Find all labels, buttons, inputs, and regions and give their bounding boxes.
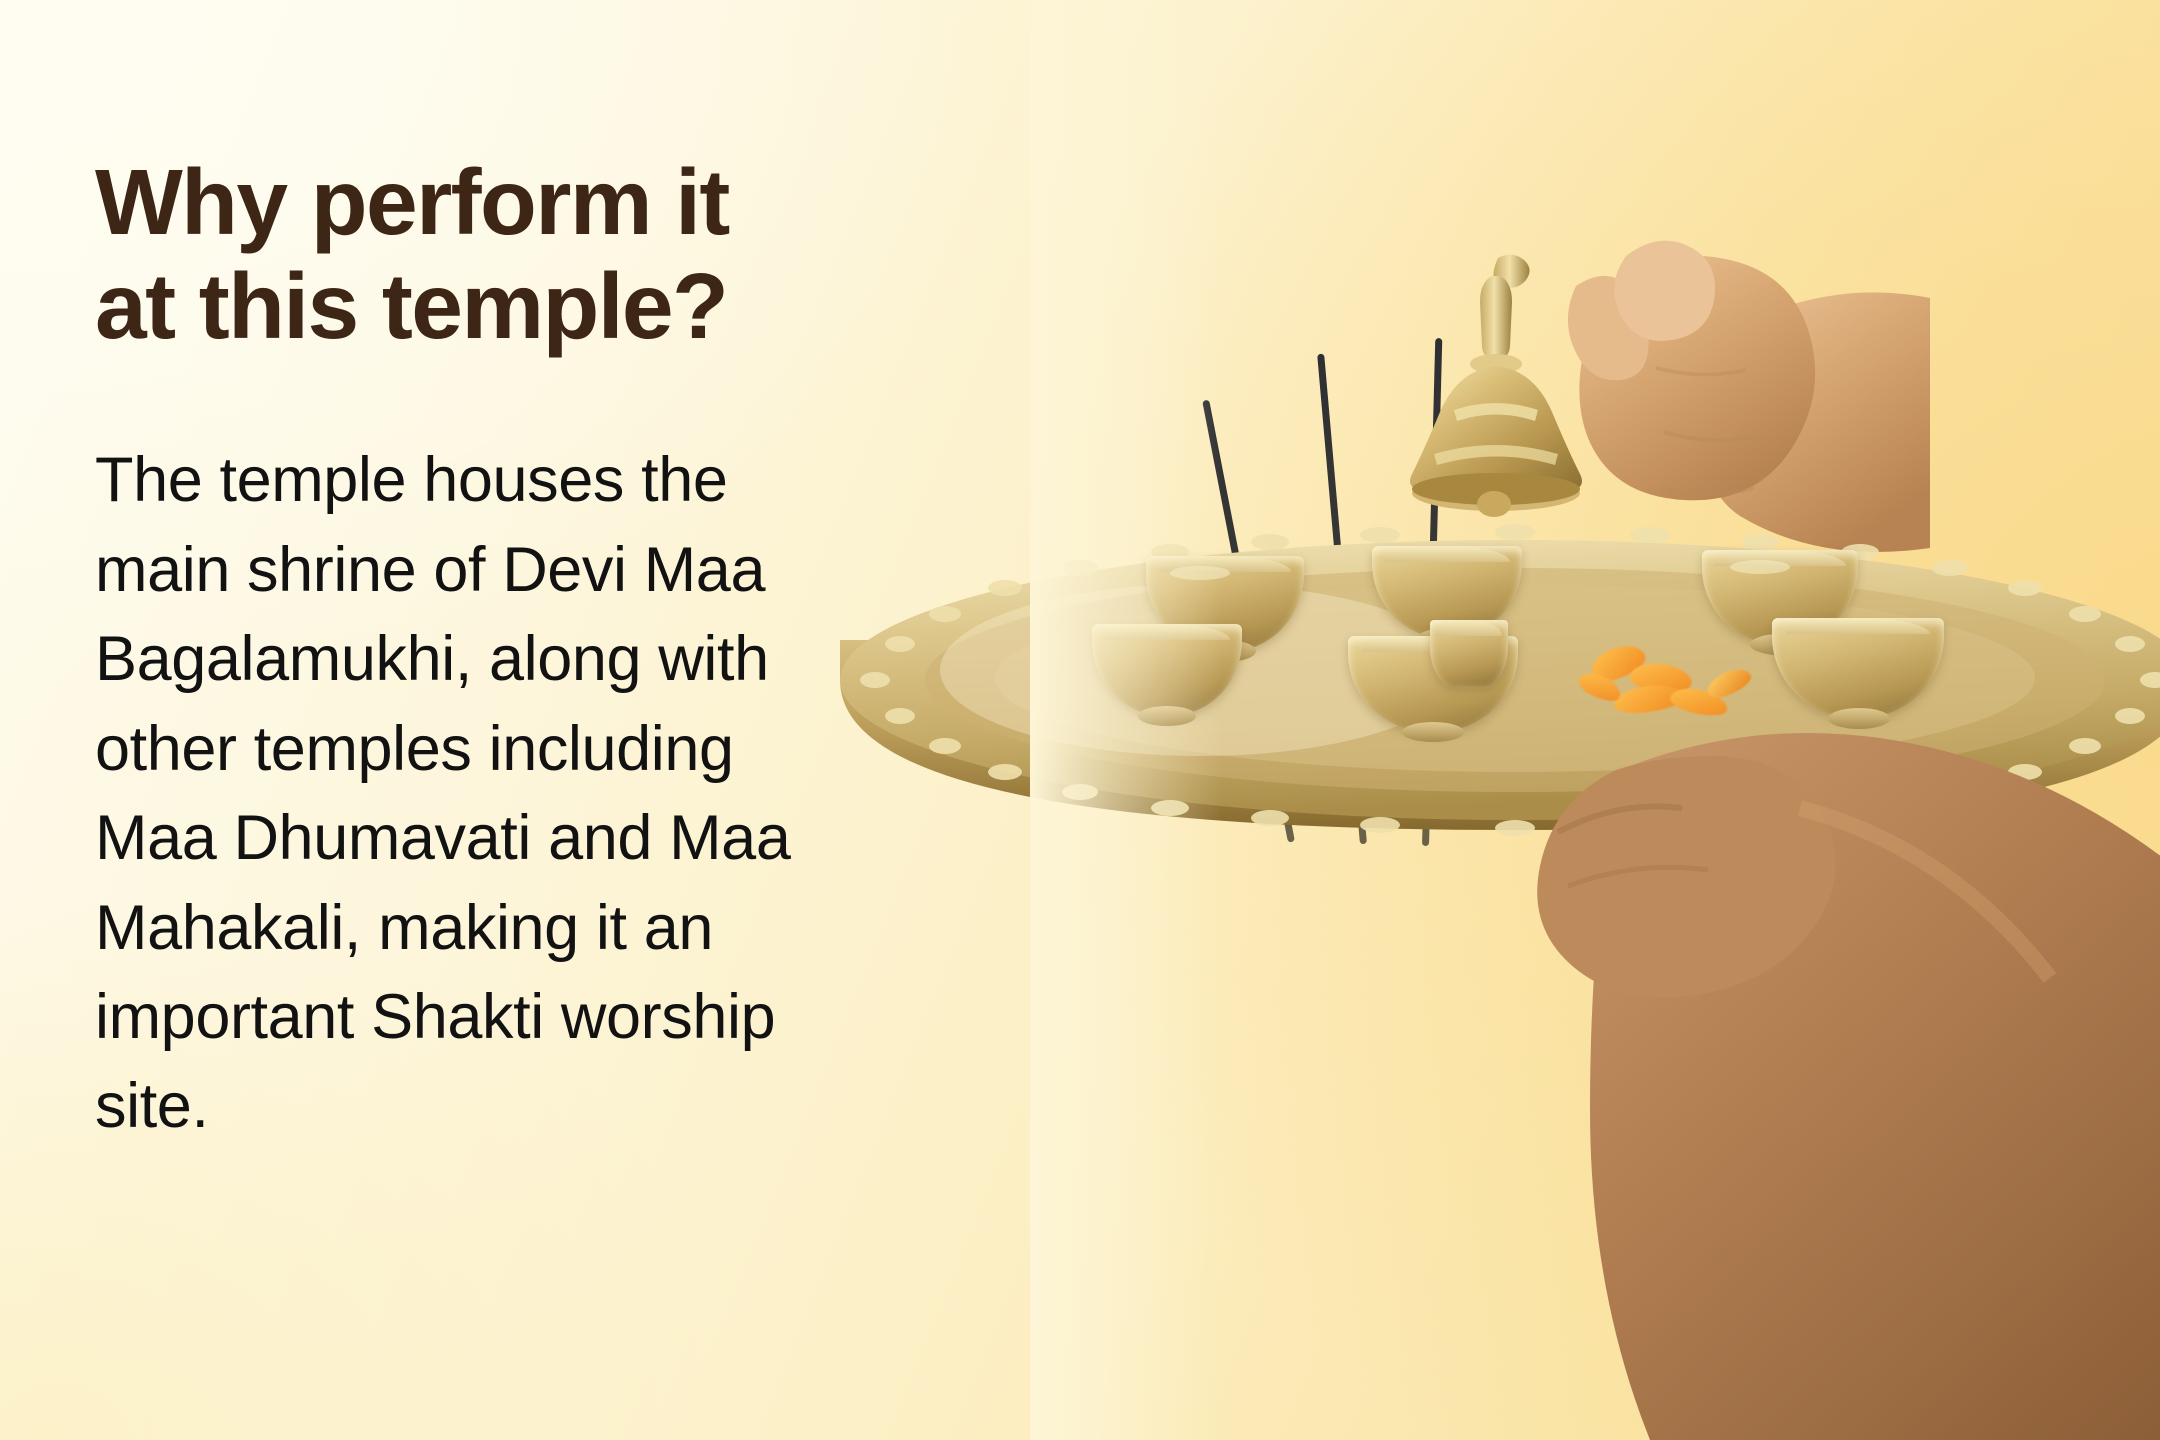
incense-holder: [1430, 620, 1508, 686]
brass-bowl-stand: [1138, 706, 1196, 726]
puja-photograph: [1030, 0, 2160, 1440]
bowl-highlight: [1170, 566, 1230, 580]
info-card: Why perform it at this temple? The templ…: [0, 0, 2160, 1440]
bowl-highlight: [1730, 560, 1790, 574]
page-title: Why perform it at this temple?: [95, 150, 1095, 358]
hand-holding-thali: [1330, 700, 2160, 1440]
